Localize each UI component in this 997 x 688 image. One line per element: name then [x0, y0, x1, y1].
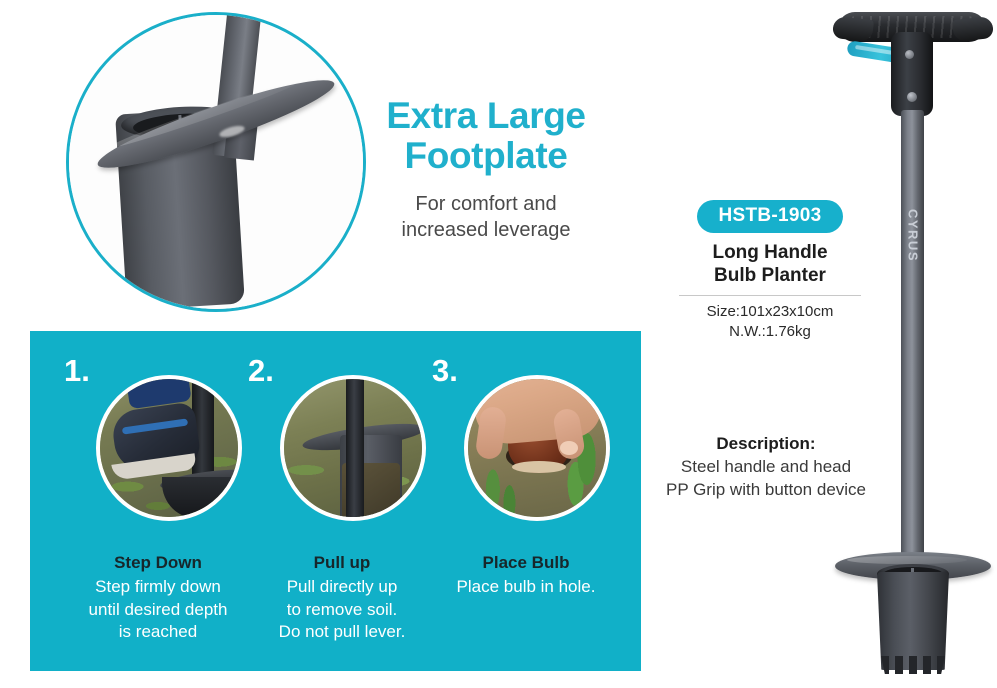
step-title-2: Pull up — [240, 553, 444, 573]
step-title-1: Step Down — [56, 553, 260, 573]
infographic-page: Extra Large Footplate For comfort and in… — [0, 0, 997, 688]
brand-mark: CYRUS — [906, 204, 921, 268]
description-line1: Steel handle and head — [650, 456, 882, 479]
step-photo-2 — [280, 375, 426, 521]
handle-end-right — [952, 16, 994, 42]
footplate-photo-art — [69, 15, 363, 309]
hero-text-block: Extra Large Footplate For comfort and in… — [372, 96, 600, 243]
bulb-root-base — [512, 461, 566, 473]
step-number-2: 2. — [248, 355, 274, 386]
step-caption-3: Place Bulb Place bulb in hole. — [424, 553, 628, 599]
step2-body-line3: Do not pull lever. — [240, 621, 444, 643]
cutter-head — [877, 572, 949, 670]
model-badge: HSTB-1903 — [697, 200, 842, 233]
info-divider — [679, 295, 861, 296]
product-description-block: Description: Steel handle and head PP Gr… — [650, 434, 882, 501]
step-number-3: 3. — [432, 355, 458, 386]
step-caption-1: Step Down Step firmly down until desired… — [56, 553, 260, 644]
product-column: CYRUS HSTB-1903 Long Handle Bulb Planter… — [650, 0, 997, 688]
step-body-1: Step firmly down until desired depth is … — [56, 576, 260, 643]
step1-body-line2: until desired depth — [56, 599, 260, 621]
steel-shaft — [901, 110, 924, 562]
step-title-3: Place Bulb — [424, 553, 628, 573]
product-net-weight: N.W.:1.76kg — [660, 322, 880, 342]
description-line2: PP Grip with button device — [650, 479, 882, 502]
handle-collar — [891, 32, 933, 116]
steps-panel: 1. Step Down Step firmly down — [30, 331, 641, 671]
description-title: Description: — [650, 434, 882, 454]
hero-title: Extra Large Footplate — [372, 96, 600, 177]
step-body-2: Pull directly up to remove soil. Do not … — [240, 576, 444, 643]
cutter-head-teeth — [881, 656, 945, 674]
hero-subtitle-line1: For comfort and — [372, 191, 600, 217]
step-photo-3 — [464, 375, 610, 521]
footplate-closeup-photo — [66, 12, 366, 312]
step1-photo-art — [100, 379, 238, 517]
description-body: Steel handle and head PP Grip with butto… — [650, 456, 882, 501]
hero-title-line2: Footplate — [372, 136, 600, 176]
product-specs: Size:101x23x10cm N.W.:1.76kg — [660, 302, 880, 342]
collar-rivet-bottom — [907, 92, 917, 102]
planter-shaft — [346, 375, 364, 521]
fingernail — [560, 441, 578, 455]
product-name-line2: Bulb Planter — [660, 265, 880, 288]
step-caption-2: Pull up Pull directly up to remove soil.… — [240, 553, 444, 644]
hero-title-line1: Extra Large — [372, 96, 600, 136]
step1-body-line3: is reached — [56, 621, 260, 643]
step-photo-1 — [96, 375, 242, 521]
hero-subtitle-line2: increased leverage — [372, 217, 600, 243]
handle-end-left — [832, 16, 874, 42]
step2-body-line2: to remove soil. — [240, 599, 444, 621]
product-size: Size:101x23x10cm — [660, 302, 880, 322]
product-photo: CYRUS — [825, 6, 997, 682]
product-info-block: HSTB-1903 Long Handle Bulb Planter Size:… — [660, 200, 880, 342]
step-body-3: Place bulb in hole. — [424, 576, 628, 598]
product-name-line1: Long Handle — [660, 242, 880, 265]
product-name: Long Handle Bulb Planter — [660, 242, 880, 288]
step-number-1: 1. — [64, 355, 90, 386]
step1-body-line1: Step firmly down — [56, 576, 260, 598]
step2-photo-art — [284, 379, 422, 517]
step3-body-line1: Place bulb in hole. — [424, 576, 628, 598]
step3-photo-art — [468, 379, 606, 517]
collar-rivet-top — [905, 50, 914, 59]
step2-body-line1: Pull directly up — [240, 576, 444, 598]
hero-subtitle: For comfort and increased leverage — [372, 191, 600, 244]
footplate-highlight — [847, 556, 967, 564]
